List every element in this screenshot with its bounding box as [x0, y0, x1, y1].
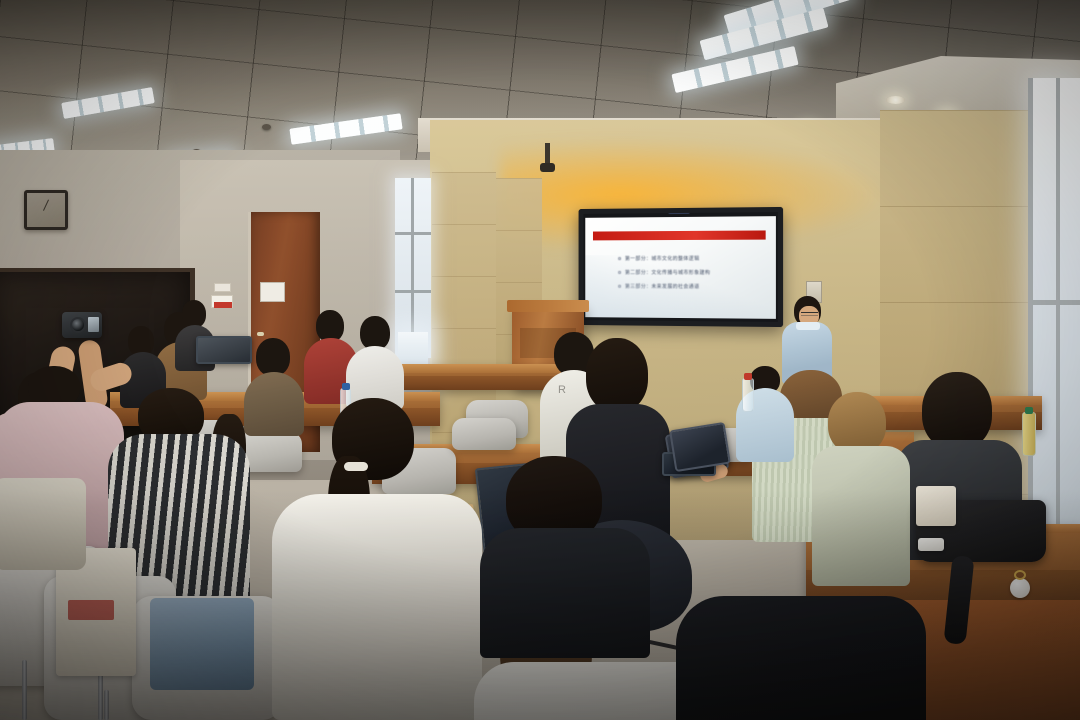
bottle-cap — [342, 383, 350, 390]
presentation-display[interactable]: 第一部分：城市文化的整体逻辑 第二部分：文化传播与城市形象建构 第三部分：未来发… — [579, 207, 784, 327]
speaker-collar — [796, 322, 820, 330]
photo-scene: 第一部分：城市文化的整体逻辑 第二部分：文化传播与城市形象建构 第三部分：未来发… — [0, 0, 1080, 720]
torso — [480, 528, 650, 658]
ceiling-light-icon — [886, 96, 905, 104]
head — [828, 392, 886, 454]
window-mullion — [395, 290, 431, 293]
bottle-cap — [744, 373, 752, 380]
torso — [272, 494, 482, 720]
window-frame — [1056, 78, 1060, 548]
glasses-icon — [801, 312, 818, 316]
torso — [812, 446, 910, 586]
torso — [244, 372, 304, 436]
bottle-icon[interactable] — [1022, 412, 1036, 456]
denim-jacket-on-chair[interactable] — [150, 598, 254, 690]
room-sign — [260, 282, 285, 302]
window-frame — [1028, 78, 1033, 548]
window-mullion — [395, 232, 431, 235]
chair-leg — [22, 660, 27, 720]
smoke-detector-icon — [262, 124, 271, 130]
camera-screen — [88, 317, 99, 332]
display-bezel — [579, 207, 784, 327]
white-smartphone[interactable] — [918, 538, 944, 551]
tote-print — [68, 600, 114, 620]
charm-ring — [1014, 570, 1026, 580]
head — [182, 300, 206, 328]
chair[interactable] — [452, 418, 516, 450]
window-left-of-front — [395, 178, 431, 358]
canvas-tote-bag[interactable] — [916, 486, 956, 526]
bottle-cap — [1025, 407, 1033, 414]
bottle-icon[interactable] — [742, 378, 754, 412]
safety-notice — [211, 295, 233, 308]
window-mullion — [411, 178, 414, 358]
camera-icon[interactable] — [62, 312, 102, 338]
laptop-screen[interactable] — [196, 336, 252, 364]
door-knob[interactable] — [257, 332, 264, 336]
laptop-icon[interactable] — [196, 336, 252, 364]
tablet-icon[interactable] — [669, 422, 731, 472]
cloth-on-chair — [0, 478, 86, 570]
head — [360, 316, 390, 350]
head — [922, 372, 992, 450]
head — [586, 338, 648, 412]
wall-notice — [214, 283, 231, 292]
lectern-top — [507, 300, 589, 312]
plush-keychain[interactable] — [1010, 578, 1030, 598]
hair-tie — [344, 462, 368, 471]
tee-print: R — [558, 384, 582, 414]
camera-lens-icon — [70, 317, 86, 333]
torso — [676, 596, 926, 720]
ceiling-mount-bracket — [545, 143, 550, 165]
head — [256, 338, 290, 376]
clock-icon — [24, 190, 68, 230]
chair-leg — [104, 690, 109, 720]
window-frame — [1030, 300, 1080, 305]
